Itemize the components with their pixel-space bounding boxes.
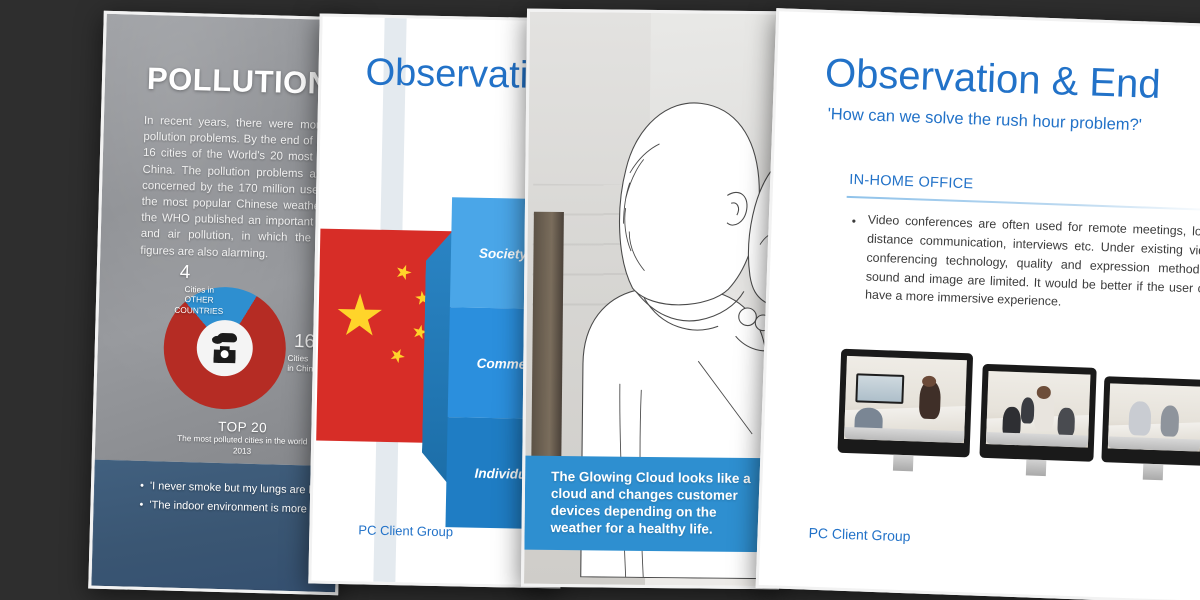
donut-caption-subtitle: The most polluted cities in the world 20…	[167, 434, 318, 459]
video-conference-image-group	[833, 334, 1200, 483]
slide-footer: PC Client Group	[358, 522, 453, 539]
slide-footer: PC Client Group	[808, 525, 910, 545]
monitor-1-screen	[844, 356, 967, 443]
slide-card-observation-end[interactable]: Observation & End 'How can we solve the …	[756, 8, 1200, 600]
page-subtitle: 'How can we solve the rush hour problem?…	[827, 105, 1142, 135]
video-conference-monitor-1	[838, 349, 974, 458]
donut-china-line-1: Cities	[287, 353, 308, 364]
donut-label-line-3: COUNTRIES	[174, 304, 223, 315]
donut-label-line-1: Cities in	[184, 284, 214, 295]
donut-label-other-countries: Cities in OTHER COUNTRIES	[157, 283, 242, 316]
page-title: POLLUTION	[147, 61, 332, 102]
layer-society-label: Society	[479, 245, 527, 261]
monitor-3-screen	[1108, 383, 1200, 451]
donut-value-other-countries: 4	[180, 262, 191, 284]
bullet-marker-icon: •	[852, 214, 857, 228]
donut-center	[196, 319, 253, 376]
monitor-2-screen	[986, 371, 1091, 448]
video-conference-monitor-2	[979, 364, 1096, 462]
section-body-text: Video conferences are often used for rem…	[865, 211, 1200, 318]
section-divider	[847, 196, 1200, 211]
slide-observation-end-content: Observation & End 'How can we solve the …	[759, 11, 1200, 600]
page-title: Observation & End	[824, 51, 1161, 108]
slide-glowing-cloud-content: The Glowing Cloud looks like a cloud and…	[524, 12, 782, 587]
glowing-cloud-caption: The Glowing Cloud looks like a cloud and…	[524, 456, 777, 553]
factory-icon	[209, 333, 240, 364]
slide-carousel-stage: POLLUTION In recent years, there were mo…	[0, 0, 1200, 600]
donut-caption: TOP 20 The most polluted cities in the w…	[167, 418, 318, 459]
slide-card-glowing-cloud[interactable]: The Glowing Cloud looks like a cloud and…	[521, 9, 785, 590]
pollution-donut-chart: 4 Cities in OTHER COUNTRIES 16 Cities in…	[139, 267, 334, 462]
video-conference-monitor-3	[1101, 376, 1200, 466]
section-heading: IN-HOME OFFICE	[849, 172, 974, 192]
donut-label-line-2: OTHER	[184, 294, 213, 305]
